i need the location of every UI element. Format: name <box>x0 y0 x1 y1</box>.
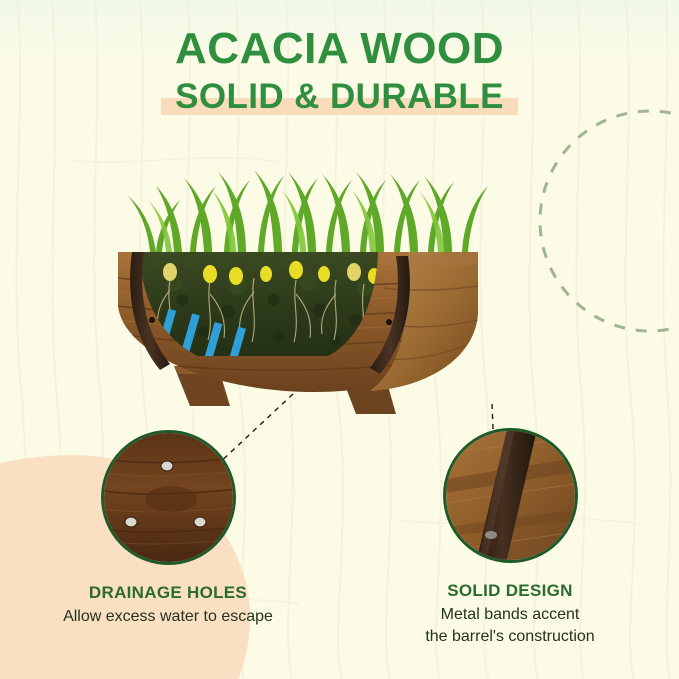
barrel-base-image <box>104 433 236 565</box>
circle-drainage-holes <box>101 430 236 565</box>
callout-solid-design: SOLID DESIGN Metal bands accent the barr… <box>360 428 660 647</box>
drainage-hole <box>194 517 206 527</box>
metal-band-closeup-image <box>446 431 578 563</box>
barrel-planter-illustration <box>78 160 538 460</box>
callout-title: DRAINAGE HOLES <box>18 583 318 603</box>
product-infographic: ACACIA WOOD SOLID & DURABLE <box>0 0 679 679</box>
subtitle-wrapper: SOLID & DURABLE <box>167 77 512 117</box>
band-rivet <box>485 531 497 539</box>
callout-drainage-holes: DRAINAGE HOLES Allow excess water to esc… <box>18 430 318 628</box>
decorative-dashed-arc <box>525 96 679 346</box>
plant-sprouts <box>128 170 488 252</box>
callout-description-line-1: Metal bands accent <box>360 604 660 626</box>
callout-title: SOLID DESIGN <box>360 581 660 601</box>
hero-product-image <box>78 160 538 460</box>
header-block: ACACIA WOOD SOLID & DURABLE <box>0 26 679 117</box>
drainage-hole <box>125 517 137 527</box>
callout-description-line-2: the barrel's construction <box>360 626 660 648</box>
circle-solid-design <box>443 428 578 563</box>
drainage-hole <box>161 461 173 471</box>
page-title: ACACIA WOOD <box>0 26 679 73</box>
callout-description: Allow excess water to escape <box>18 606 318 628</box>
page-subtitle: SOLID & DURABLE <box>167 77 512 117</box>
